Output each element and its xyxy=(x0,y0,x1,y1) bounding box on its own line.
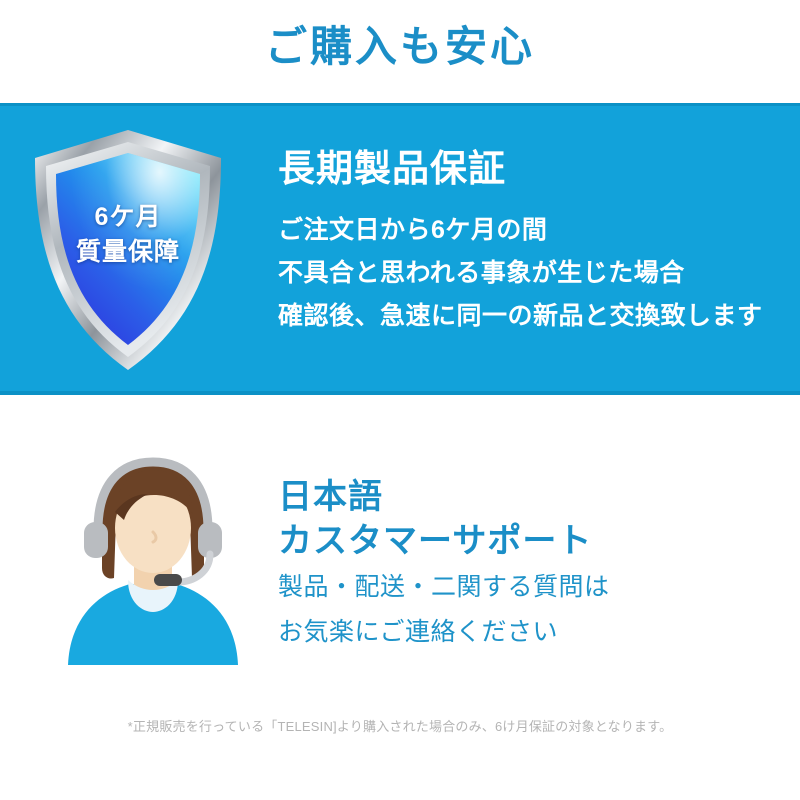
shield-badge-line1: 6ケ月 xyxy=(28,200,228,235)
warranty-panel: 6ケ月 質量保障 長期製品保証 ご注文日から6ケ月の間 不具合と思われる事象が生… xyxy=(0,103,800,395)
support-text-block: 日本語 カスタマーサポート 製品・配送・二関する質問は お気楽にご連絡ください xyxy=(278,476,778,652)
support-line-1: 製品・配送・二関する質問は xyxy=(278,567,778,608)
warranty-line-3: 確認後、急速に同一の新品と交換致します xyxy=(278,295,778,338)
shield-badge: 6ケ月 質量保障 xyxy=(28,126,228,374)
support-section: 日本語 カスタマーサポート 製品・配送・二関する質問は お気楽にご連絡ください xyxy=(0,440,800,680)
support-heading-line1: 日本語 xyxy=(278,476,778,520)
warranty-line-1: ご注文日から6ケ月の間 xyxy=(278,209,778,252)
warranty-line-2: 不具合と思われる事象が生じた場合 xyxy=(278,252,778,295)
warranty-heading: 長期製品保証 xyxy=(278,148,778,191)
footer-disclaimer: *正規販売を行っている「TELESIN]より購入された場合のみ、6け月保証の対象… xyxy=(0,716,800,735)
headset-agent-icon xyxy=(58,450,248,665)
support-heading-line2: カスタマーサポート xyxy=(278,520,778,564)
support-line-2: お気楽にご連絡ください xyxy=(278,612,778,653)
support-agent-avatar xyxy=(58,450,248,665)
shield-badge-text: 6ケ月 質量保障 xyxy=(28,200,228,269)
page-title: ご購入も安心 xyxy=(0,22,800,72)
shield-badge-line2: 質量保障 xyxy=(28,235,228,270)
warranty-text-block: 長期製品保証 ご注文日から6ケ月の間 不具合と思われる事象が生じた場合 確認後、… xyxy=(278,148,778,338)
promo-page: ご購入も安心 xyxy=(0,0,800,800)
